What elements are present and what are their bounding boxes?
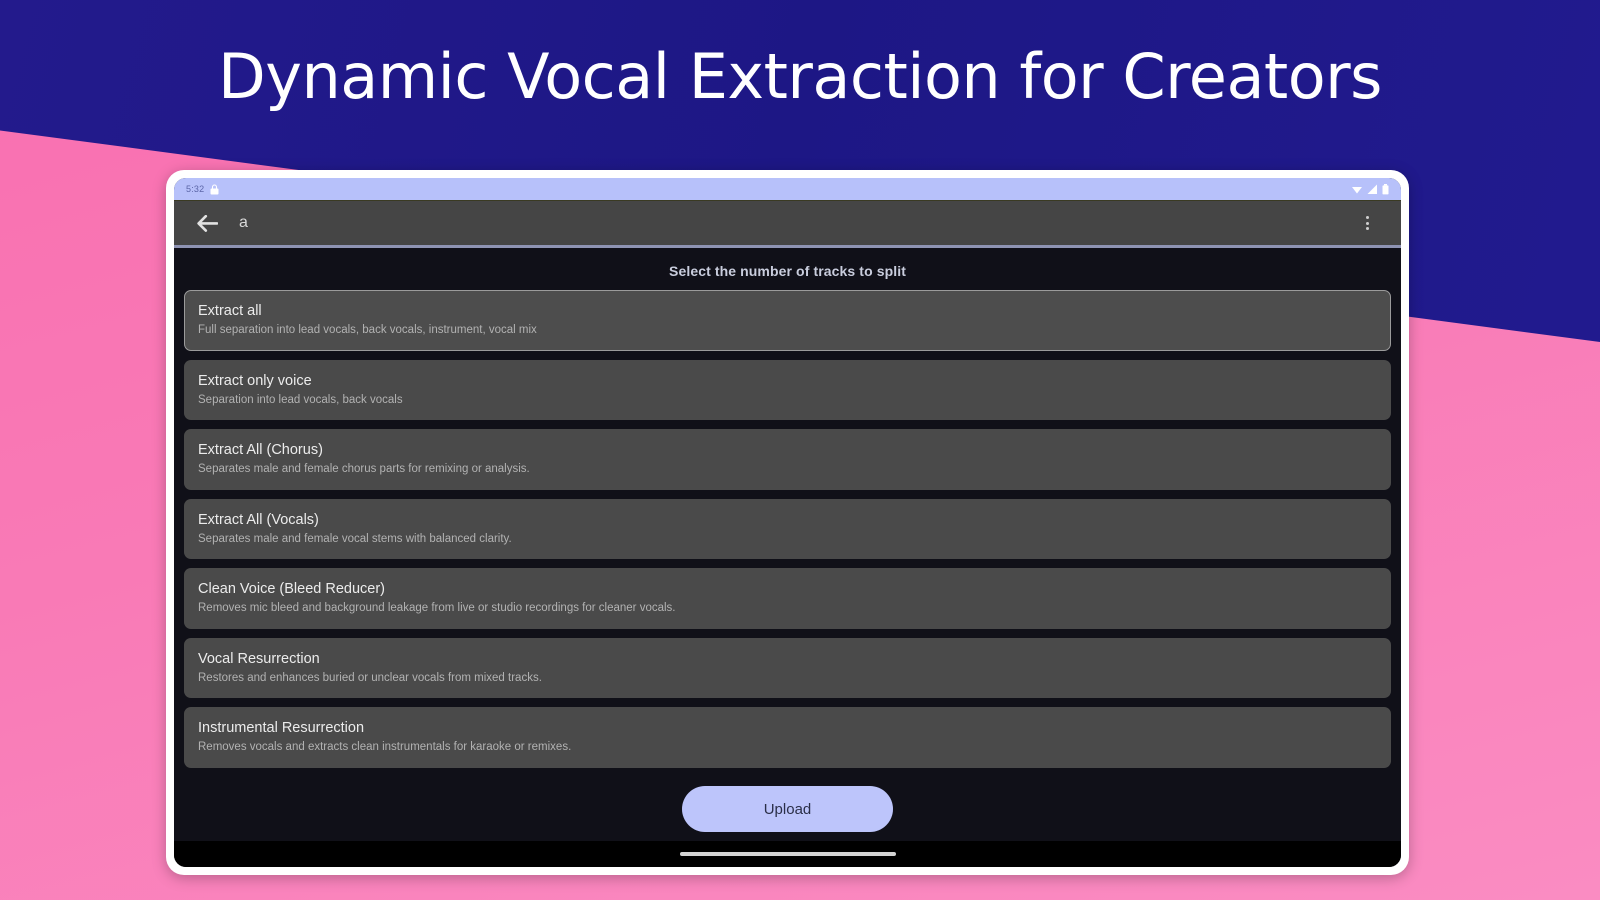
back-arrow-icon (197, 215, 218, 232)
overflow-dot (1366, 216, 1369, 219)
option-description: Separates male and female chorus parts f… (198, 462, 1377, 476)
overflow-menu-icon[interactable] (1355, 210, 1379, 236)
status-bar-right (1351, 184, 1389, 195)
option-title: Clean Voice (Bleed Reducer) (198, 580, 1377, 598)
lock-icon (210, 184, 219, 195)
option-description: Full separation into lead vocals, back v… (198, 323, 1377, 337)
option-card[interactable]: Instrumental ResurrectionRemoves vocals … (184, 707, 1391, 768)
option-title: Extract all (198, 302, 1377, 320)
upload-button[interactable]: Upload (682, 786, 893, 832)
status-bar-left: 5:32 (186, 184, 219, 195)
option-card[interactable]: Extract allFull separation into lead voc… (184, 290, 1391, 351)
wifi-icon (1351, 184, 1363, 195)
app-bar-title: a (239, 214, 248, 232)
option-description: Removes mic bleed and background leakage… (198, 601, 1377, 615)
option-title: Instrumental Resurrection (198, 719, 1377, 737)
option-title: Extract All (Chorus) (198, 441, 1377, 459)
option-card[interactable]: Extract only voiceSeparation into lead v… (184, 360, 1391, 421)
back-button[interactable] (194, 210, 220, 236)
option-card[interactable]: Extract All (Vocals)Separates male and f… (184, 499, 1391, 560)
navigation-bar (174, 841, 1401, 867)
option-title: Extract All (Vocals) (198, 511, 1377, 529)
status-clock: 5:32 (186, 184, 204, 194)
option-description: Restores and enhances buried or unclear … (198, 671, 1377, 685)
option-description: Removes vocals and extracts clean instru… (198, 740, 1377, 754)
option-description: Separates male and female vocal stems wi… (198, 532, 1377, 546)
upload-bar: Upload (174, 773, 1401, 841)
option-card[interactable]: Clean Voice (Bleed Reducer)Removes mic b… (184, 568, 1391, 629)
screen-body: Select the number of tracks to split Ext… (174, 248, 1401, 773)
device-screen: 5:32 (174, 178, 1401, 867)
signal-icon (1367, 184, 1378, 195)
screenshot-stage: Dynamic Vocal Extraction for Creators 5:… (0, 0, 1600, 900)
status-bar: 5:32 (174, 178, 1401, 200)
option-title: Extract only voice (198, 372, 1377, 390)
option-description: Separation into lead vocals, back vocals (198, 393, 1377, 407)
page-title: Dynamic Vocal Extraction for Creators (0, 44, 1600, 109)
section-heading: Select the number of tracks to split (184, 248, 1391, 290)
option-card[interactable]: Vocal ResurrectionRestores and enhances … (184, 638, 1391, 699)
home-indicator[interactable] (680, 852, 896, 856)
device-frame: 5:32 (166, 170, 1409, 875)
overflow-dot (1366, 227, 1369, 230)
option-list: Extract allFull separation into lead voc… (184, 290, 1391, 768)
battery-icon (1382, 184, 1389, 195)
option-card[interactable]: Extract All (Chorus)Separates male and f… (184, 429, 1391, 490)
overflow-dot (1366, 222, 1369, 225)
option-title: Vocal Resurrection (198, 650, 1377, 668)
app-bar: a (174, 200, 1401, 248)
